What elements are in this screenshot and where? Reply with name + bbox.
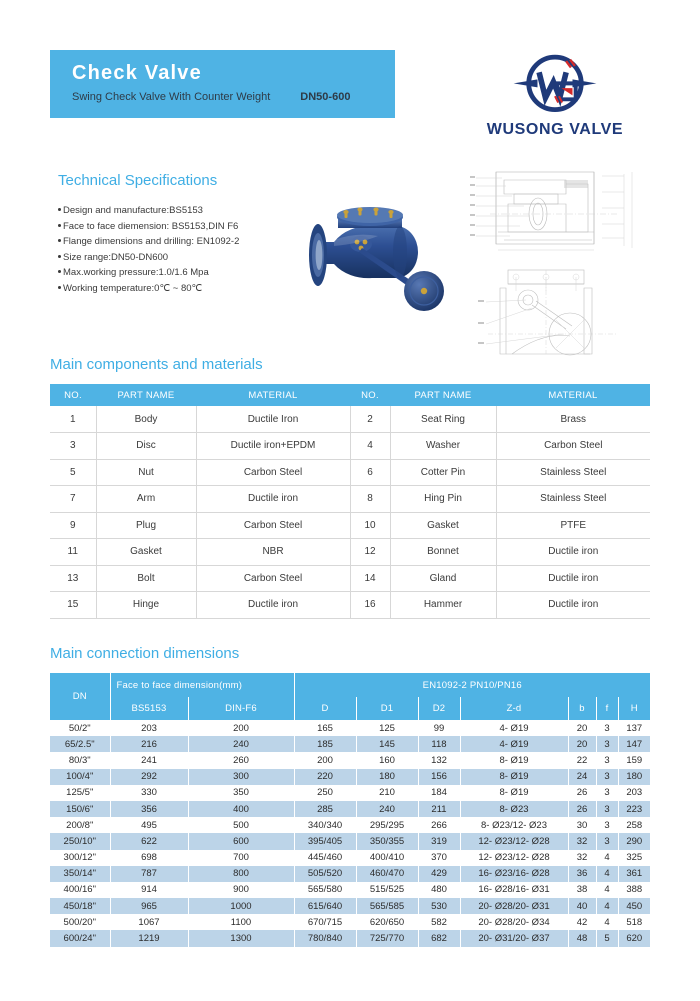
cell-dn: 300/12" [50, 850, 110, 866]
cell-f: 3 [596, 817, 618, 833]
cell-d2: 582 [418, 914, 460, 930]
cell-b: 26 [568, 801, 596, 817]
cell-material: Stainless Steel [496, 459, 650, 486]
cell-b: 40 [568, 898, 596, 914]
table-row: 5 Nut Carbon Steel 6 Cotter Pin Stainles… [50, 459, 650, 486]
cell-z-d: 8- Ø23/12- Ø23 [460, 817, 568, 833]
cell-z-d: 20- Ø28/20- Ø31 [460, 898, 568, 914]
dimensions-header-row-1: DN Face to face dimension(mm) EN1092-2 P… [50, 673, 650, 697]
cell-dn: 400/16" [50, 882, 110, 898]
cell-d1: 460/470 [356, 866, 418, 882]
cell-d1: 565/585 [356, 898, 418, 914]
technical-specifications-section: Technical Specifications Design and manu… [58, 172, 318, 296]
cell-h: 450 [618, 898, 650, 914]
cell-no: 5 [50, 459, 96, 486]
cell-bs5153: 622 [110, 833, 188, 849]
cell-f: 3 [596, 736, 618, 752]
spec-text: Size range:DN50-DN600 [63, 250, 168, 266]
cell-dn: 450/18" [50, 898, 110, 914]
cell-part: Arm [96, 486, 196, 513]
col-h: H [618, 697, 650, 720]
cell-z-d: 12- Ø23/12- Ø28 [460, 833, 568, 849]
spec-item: Flange dimensions and drilling: EN1092-2 [58, 234, 318, 250]
cell-din-f6: 240 [188, 736, 294, 752]
cell-material: Carbon Steel [196, 459, 350, 486]
col-d1: D1 [356, 697, 418, 720]
cell-bs5153: 787 [110, 866, 188, 882]
cell-b: 20 [568, 736, 596, 752]
col-d2: D2 [418, 697, 460, 720]
col-d: D [294, 697, 356, 720]
product-photo-check-valve [288, 190, 460, 320]
cell-z-d: 16- Ø28/16- Ø31 [460, 882, 568, 898]
cell-d2: 211 [418, 801, 460, 817]
page-title: Check Valve [72, 61, 395, 85]
cell-dn: 80/3" [50, 752, 110, 768]
cell-material: Ductile iron [496, 539, 650, 566]
cell-din-f6: 200 [188, 720, 294, 736]
cell-z-d: 8- Ø19 [460, 769, 568, 785]
cell-part: Bonnet [390, 539, 496, 566]
cell-d1: 240 [356, 801, 418, 817]
cell-no: 13 [50, 565, 96, 592]
cell-f: 4 [596, 914, 618, 930]
cell-d2: 682 [418, 930, 460, 946]
cell-d1: 295/295 [356, 817, 418, 833]
cell-material: NBR [196, 539, 350, 566]
cell-bs5153: 356 [110, 801, 188, 817]
cell-dn: 350/14" [50, 866, 110, 882]
cell-bs5153: 965 [110, 898, 188, 914]
cell-f: 4 [596, 882, 618, 898]
cell-d2: 429 [418, 866, 460, 882]
table-row: 50/2" 203 200 165 125 99 4- Ø19 20 3 137 [50, 720, 650, 736]
cell-no: 4 [350, 433, 390, 460]
cell-material: Carbon Steel [196, 565, 350, 592]
cell-h: 258 [618, 817, 650, 833]
cell-material: Carbon Steel [496, 433, 650, 460]
cell-bs5153: 203 [110, 720, 188, 736]
cell-f: 3 [596, 769, 618, 785]
table-row: 1 Body Ductile Iron 2 Seat Ring Brass [50, 406, 650, 433]
cell-bs5153: 216 [110, 736, 188, 752]
cell-h: 388 [618, 882, 650, 898]
valve-exterior-drawing [472, 258, 634, 368]
components-table-header-row: NO. PART NAME MATERIAL NO. PART NAME MAT… [50, 384, 650, 406]
cell-d2: 118 [418, 736, 460, 752]
cell-dn: 600/24" [50, 930, 110, 946]
spec-item: Working temperature:0℃ ~ 80℃ [58, 281, 318, 297]
cell-part: Nut [96, 459, 196, 486]
cell-h: 620 [618, 930, 650, 946]
group-en1092: EN1092-2 PN10/PN16 [294, 673, 650, 697]
cell-z-d: 20- Ø28/20- Ø34 [460, 914, 568, 930]
cell-dn: 500/20" [50, 914, 110, 930]
cell-d1: 210 [356, 785, 418, 801]
cell-material: Stainless Steel [496, 486, 650, 513]
cell-dn: 200/8" [50, 817, 110, 833]
col-part-name-2: PART NAME [390, 384, 496, 406]
components-heading: Main components and materials [50, 356, 650, 373]
table-row: 3 Disc Ductile iron+EPDM 4 Washer Carbon… [50, 433, 650, 460]
cell-h: 518 [618, 914, 650, 930]
spec-text: Working temperature:0℃ ~ 80℃ [63, 281, 202, 297]
cell-din-f6: 260 [188, 752, 294, 768]
cell-h: 325 [618, 850, 650, 866]
table-row: 200/8" 495 500 340/340 295/295 266 8- Ø2… [50, 817, 650, 833]
cell-b: 20 [568, 720, 596, 736]
table-row: 65/2.5" 216 240 185 145 118 4- Ø19 20 3 … [50, 736, 650, 752]
cell-d2: 319 [418, 833, 460, 849]
cell-z-d: 20- Ø31/20- Ø37 [460, 930, 568, 946]
spec-item: Design and manufacture:BS5153 [58, 203, 318, 219]
dimensions-header-row-2: BS5153 DIN-F6 D D1 D2 Z-d b f H [50, 697, 650, 720]
col-din-f6: DIN-F6 [188, 697, 294, 720]
cell-d: 615/640 [294, 898, 356, 914]
title-banner: Check Valve Swing Check Valve With Count… [50, 50, 395, 118]
cell-d: 395/405 [294, 833, 356, 849]
cell-material: Ductile iron [496, 592, 650, 619]
banner-subtitle-row: Swing Check Valve With Counter Weight DN… [72, 90, 395, 104]
cell-material: PTFE [496, 512, 650, 539]
bullet-icon [58, 239, 61, 242]
cell-material: Ductile iron [496, 565, 650, 592]
cell-h: 180 [618, 769, 650, 785]
cell-h: 147 [618, 736, 650, 752]
cell-b: 38 [568, 882, 596, 898]
technical-specifications-list: Design and manufacture:BS5153 Face to fa… [58, 203, 318, 296]
cell-z-d: 8- Ø19 [460, 752, 568, 768]
cell-d: 165 [294, 720, 356, 736]
col-no-1: NO. [50, 384, 96, 406]
technical-specifications-heading: Technical Specifications [58, 172, 318, 189]
cell-part: Hing Pin [390, 486, 496, 513]
table-row: 400/16" 914 900 565/580 515/525 480 16- … [50, 882, 650, 898]
cell-part: Hammer [390, 592, 496, 619]
cell-part: Cotter Pin [390, 459, 496, 486]
table-row: 600/24" 1219 1300 780/840 725/770 682 20… [50, 930, 650, 946]
cell-dn: 125/5" [50, 785, 110, 801]
size-range-label: DN50-600 [300, 91, 350, 103]
group-face-to-face: Face to face dimension(mm) [110, 673, 294, 697]
cell-f: 5 [596, 930, 618, 946]
dimensions-table: DN Face to face dimension(mm) EN1092-2 P… [50, 673, 650, 947]
page-header: Check Valve Swing Check Valve With Count… [0, 50, 700, 150]
cell-b: 48 [568, 930, 596, 946]
spec-text: Face to face diemension: BS5153,DIN F6 [63, 219, 238, 235]
table-row: 450/18" 965 1000 615/640 565/585 530 20-… [50, 898, 650, 914]
cell-part: Hinge [96, 592, 196, 619]
table-row: 500/20" 1067 1100 670/715 620/650 582 20… [50, 914, 650, 930]
cell-bs5153: 1067 [110, 914, 188, 930]
cell-d2: 156 [418, 769, 460, 785]
cell-b: 24 [568, 769, 596, 785]
col-part-name-1: PART NAME [96, 384, 196, 406]
cell-d: 445/460 [294, 850, 356, 866]
cell-f: 3 [596, 801, 618, 817]
cell-z-d: 8- Ø23 [460, 801, 568, 817]
cell-d: 565/580 [294, 882, 356, 898]
cell-no: 16 [350, 592, 390, 619]
cell-material: Ductile Iron [196, 406, 350, 433]
cell-d1: 180 [356, 769, 418, 785]
cell-d: 340/340 [294, 817, 356, 833]
cell-h: 361 [618, 866, 650, 882]
cell-z-d: 8- Ø19 [460, 785, 568, 801]
cell-bs5153: 914 [110, 882, 188, 898]
company-name: WUSONG VALVE [487, 121, 623, 139]
col-f: f [596, 697, 618, 720]
cell-z-d: 4- Ø19 [460, 736, 568, 752]
cell-din-f6: 350 [188, 785, 294, 801]
cell-z-d: 12- Ø23/12- Ø28 [460, 850, 568, 866]
cell-no: 6 [350, 459, 390, 486]
cell-d: 505/520 [294, 866, 356, 882]
cell-din-f6: 1300 [188, 930, 294, 946]
col-material-2: MATERIAL [496, 384, 650, 406]
cell-h: 203 [618, 785, 650, 801]
cell-material: Ductile iron+EPDM [196, 433, 350, 460]
cell-d2: 370 [418, 850, 460, 866]
spec-text: Design and manufacture:BS5153 [63, 203, 203, 219]
cell-din-f6: 500 [188, 817, 294, 833]
components-table: NO. PART NAME MATERIAL NO. PART NAME MAT… [50, 384, 650, 619]
cell-b: 30 [568, 817, 596, 833]
cell-no: 2 [350, 406, 390, 433]
cell-part: Seat Ring [390, 406, 496, 433]
cell-f: 4 [596, 866, 618, 882]
spec-item: Face to face diemension: BS5153,DIN F6 [58, 219, 318, 235]
cell-dn: 50/2" [50, 720, 110, 736]
col-no-2: NO. [350, 384, 390, 406]
spec-text: Max.working pressure:1.0/1.6 Mpa [63, 265, 209, 281]
cell-d2: 99 [418, 720, 460, 736]
cell-dn: 250/10" [50, 833, 110, 849]
cell-b: 22 [568, 752, 596, 768]
bullet-icon [58, 270, 61, 273]
spec-text: Flange dimensions and drilling: EN1092-2 [63, 234, 239, 250]
cell-din-f6: 700 [188, 850, 294, 866]
cell-b: 32 [568, 833, 596, 849]
cell-no: 10 [350, 512, 390, 539]
cell-d: 670/715 [294, 914, 356, 930]
table-row: 150/6" 356 400 285 240 211 8- Ø23 26 3 2… [50, 801, 650, 817]
bullet-icon [58, 286, 61, 289]
table-row: 15 Hinge Ductile iron 16 Hammer Ductile … [50, 592, 650, 619]
cell-h: 290 [618, 833, 650, 849]
cell-f: 3 [596, 833, 618, 849]
cell-z-d: 16- Ø23/16- Ø28 [460, 866, 568, 882]
cell-no: 11 [50, 539, 96, 566]
cell-part: Bolt [96, 565, 196, 592]
cell-d: 285 [294, 801, 356, 817]
table-row: 100/4" 292 300 220 180 156 8- Ø19 24 3 1… [50, 769, 650, 785]
cell-d2: 480 [418, 882, 460, 898]
table-row: 9 Plug Carbon Steel 10 Gasket PTFE [50, 512, 650, 539]
cell-d: 200 [294, 752, 356, 768]
table-row: 11 Gasket NBR 12 Bonnet Ductile iron [50, 539, 650, 566]
cell-din-f6: 900 [188, 882, 294, 898]
spec-item: Max.working pressure:1.0/1.6 Mpa [58, 265, 318, 281]
bullet-icon [58, 208, 61, 211]
cell-f: 3 [596, 720, 618, 736]
cell-d1: 400/410 [356, 850, 418, 866]
col-b: b [568, 697, 596, 720]
cell-part: Gasket [390, 512, 496, 539]
company-logo: WUSONG VALVE [465, 50, 645, 155]
table-row: 250/10" 622 600 395/405 350/355 319 12- … [50, 833, 650, 849]
table-row: 350/14" 787 800 505/520 460/470 429 16- … [50, 866, 650, 882]
cell-d1: 725/770 [356, 930, 418, 946]
cell-no: 9 [50, 512, 96, 539]
cell-part: Gasket [96, 539, 196, 566]
cell-d: 780/840 [294, 930, 356, 946]
cell-dn: 100/4" [50, 769, 110, 785]
cell-material: Brass [496, 406, 650, 433]
cell-din-f6: 600 [188, 833, 294, 849]
cell-d2: 530 [418, 898, 460, 914]
bullet-icon [58, 224, 61, 227]
cell-f: 3 [596, 785, 618, 801]
cell-part: Washer [390, 433, 496, 460]
cell-bs5153: 495 [110, 817, 188, 833]
spec-item: Size range:DN50-DN600 [58, 250, 318, 266]
cell-no: 8 [350, 486, 390, 513]
cell-b: 26 [568, 785, 596, 801]
cell-d1: 145 [356, 736, 418, 752]
cell-no: 12 [350, 539, 390, 566]
dimensions-heading: Main connection dimensions [50, 645, 650, 662]
cell-din-f6: 1100 [188, 914, 294, 930]
dimensions-section: Main connection dimensions DN Face to fa… [50, 645, 650, 947]
table-row: 125/5" 330 350 250 210 184 8- Ø19 26 3 2… [50, 785, 650, 801]
cell-din-f6: 300 [188, 769, 294, 785]
table-row: 80/3" 241 260 200 160 132 8- Ø19 22 3 15… [50, 752, 650, 768]
cell-dn: 150/6" [50, 801, 110, 817]
cell-d2: 132 [418, 752, 460, 768]
table-row: 7 Arm Ductile iron 8 Hing Pin Stainless … [50, 486, 650, 513]
cell-din-f6: 1000 [188, 898, 294, 914]
cell-din-f6: 800 [188, 866, 294, 882]
cell-d1: 350/355 [356, 833, 418, 849]
cell-z-d: 4- Ø19 [460, 720, 568, 736]
components-section: Main components and materials NO. PART N… [50, 356, 650, 619]
cell-material: Ductile iron [196, 592, 350, 619]
cell-f: 4 [596, 898, 618, 914]
cell-b: 36 [568, 866, 596, 882]
cell-no: 15 [50, 592, 96, 619]
cell-d1: 125 [356, 720, 418, 736]
page-subtitle: Swing Check Valve With Counter Weight [72, 90, 270, 104]
cell-d2: 266 [418, 817, 460, 833]
cell-part: Plug [96, 512, 196, 539]
cell-h: 137 [618, 720, 650, 736]
cell-d: 185 [294, 736, 356, 752]
cell-d1: 515/525 [356, 882, 418, 898]
cell-d1: 160 [356, 752, 418, 768]
table-row: 300/12" 698 700 445/460 400/410 370 12- … [50, 850, 650, 866]
cell-f: 3 [596, 752, 618, 768]
cell-no: 7 [50, 486, 96, 513]
cell-part: Disc [96, 433, 196, 460]
table-row: 13 Bolt Carbon Steel 14 Gland Ductile ir… [50, 565, 650, 592]
cell-no: 14 [350, 565, 390, 592]
col-bs5153: BS5153 [110, 697, 188, 720]
cell-b: 32 [568, 850, 596, 866]
cell-bs5153: 241 [110, 752, 188, 768]
cell-no: 1 [50, 406, 96, 433]
wusong-logo-icon [507, 50, 603, 120]
col-z-d: Z-d [460, 697, 568, 720]
cell-d1: 620/650 [356, 914, 418, 930]
cell-bs5153: 330 [110, 785, 188, 801]
cell-d2: 184 [418, 785, 460, 801]
cell-b: 42 [568, 914, 596, 930]
cell-bs5153: 292 [110, 769, 188, 785]
cell-h: 159 [618, 752, 650, 768]
cell-din-f6: 400 [188, 801, 294, 817]
cell-bs5153: 1219 [110, 930, 188, 946]
cell-h: 223 [618, 801, 650, 817]
cell-material: Ductile iron [196, 486, 350, 513]
bullet-icon [58, 255, 61, 258]
cell-d: 220 [294, 769, 356, 785]
cell-bs5153: 698 [110, 850, 188, 866]
cell-d: 250 [294, 785, 356, 801]
col-dn: DN [50, 673, 110, 720]
cell-f: 4 [596, 850, 618, 866]
col-material-1: MATERIAL [196, 384, 350, 406]
cell-material: Carbon Steel [196, 512, 350, 539]
valve-section-drawing [468, 162, 640, 258]
cell-part: Body [96, 406, 196, 433]
cell-no: 3 [50, 433, 96, 460]
cell-dn: 65/2.5" [50, 736, 110, 752]
cell-part: Gland [390, 565, 496, 592]
